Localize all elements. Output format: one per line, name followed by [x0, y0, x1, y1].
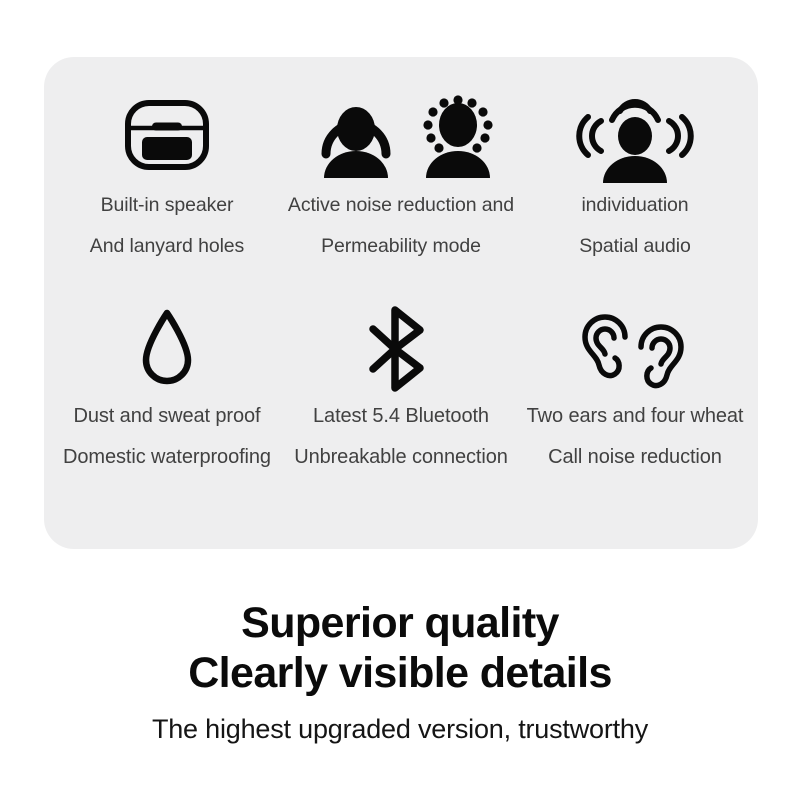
noise-reduction-transparency-icon	[306, 83, 496, 187]
feature-label-line2: Permeability mode	[321, 237, 481, 257]
feature-label-line1: Active noise reduction and	[288, 196, 514, 216]
water-drop-icon	[134, 301, 200, 397]
feature-label-line2: Unbreakable connection	[294, 447, 508, 467]
feature-label-line2: Spatial audio	[579, 237, 690, 257]
earbuds-case-icon	[121, 83, 213, 187]
feature-label-line2: Call noise reduction	[548, 447, 722, 467]
subheadline: The highest upgraded version, trustworth…	[0, 712, 800, 746]
feature-label-line2: And lanyard holes	[90, 237, 244, 257]
feature-label-line1: Two ears and four wheat	[527, 406, 744, 426]
two-ears-icon	[579, 301, 691, 397]
headline-line-2: Clearly visible details	[0, 648, 800, 698]
feature-label-line1: individuation	[581, 196, 688, 216]
product-feature-page: Built-in speaker And lanyard holes	[0, 0, 800, 800]
bluetooth-icon	[365, 301, 437, 397]
feature-label-line2: Domestic waterproofing	[63, 447, 271, 467]
feature-label-line1: Latest 5.4 Bluetooth	[313, 406, 489, 426]
feature-item-noise-reduction: Active noise reduction and Permeability …	[284, 83, 518, 301]
feature-item-built-in-speaker: Built-in speaker And lanyard holes	[50, 83, 284, 301]
headline-line-1: Superior quality	[0, 598, 800, 648]
feature-grid: Built-in speaker And lanyard holes	[44, 57, 758, 549]
feature-item-dual-mic: Two ears and four wheat Call noise reduc…	[518, 301, 752, 519]
feature-item-bluetooth: Latest 5.4 Bluetooth Unbreakable connect…	[284, 301, 518, 519]
feature-label-line1: Built-in speaker	[101, 196, 234, 216]
feature-item-spatial-audio: individuation Spatial audio	[518, 83, 752, 301]
headline-block: Superior quality Clearly visible details…	[0, 598, 800, 746]
feature-card: Built-in speaker And lanyard holes	[44, 57, 758, 549]
spatial-audio-icon	[576, 83, 694, 187]
feature-label-line1: Dust and sweat proof	[74, 406, 261, 426]
feature-item-waterproof: Dust and sweat proof Domestic waterproof…	[50, 301, 284, 519]
